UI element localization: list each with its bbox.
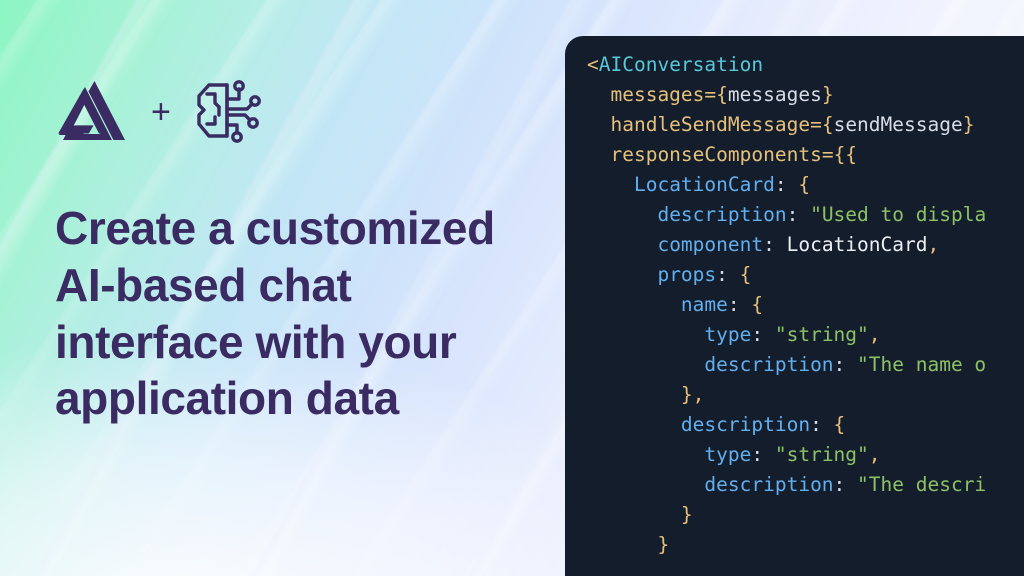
code-indent <box>587 473 704 496</box>
page-title: Create a customized AI-based chat interf… <box>55 200 550 427</box>
code-indent <box>587 443 704 466</box>
code-token: messages <box>610 83 704 106</box>
code-indent <box>587 263 657 286</box>
code-indent <box>587 413 681 436</box>
code-line: } <box>587 500 986 530</box>
code-indent <box>587 383 681 406</box>
code-token: "string" <box>775 323 869 346</box>
headline-line-4: application data <box>55 370 550 427</box>
code-line: description: "The name o <box>587 350 986 380</box>
code-token: : <box>716 263 739 286</box>
code-line: <AIConversation <box>587 50 986 80</box>
code-token: responseComponents <box>610 143 821 166</box>
code-token: } <box>681 503 693 526</box>
code-token: { <box>822 113 834 136</box>
code-line: description: { <box>587 410 986 440</box>
code-line: description: "The descri <box>587 470 986 500</box>
code-line: responseComponents={{ <box>587 140 986 170</box>
code-panel: <AIConversation messages={messages} hand… <box>565 36 1024 576</box>
code-block: <AIConversation messages={messages} hand… <box>587 50 986 560</box>
code-indent <box>587 503 681 526</box>
amplify-logo-icon <box>55 78 129 146</box>
code-line: messages={messages} <box>587 80 986 110</box>
code-token: : <box>787 203 810 226</box>
code-token: } <box>963 113 975 136</box>
code-token: description <box>681 413 810 436</box>
code-token: : <box>751 443 774 466</box>
code-line: handleSendMessage={sendMessage} <box>587 110 986 140</box>
code-token: { <box>834 413 846 436</box>
code-token: { <box>716 83 728 106</box>
code-line: type: "string", <box>587 440 986 470</box>
code-token: description <box>704 353 833 376</box>
code-token: } <box>657 533 669 556</box>
plus-separator-icon: + <box>151 95 171 129</box>
code-token: description <box>657 203 786 226</box>
code-token: : <box>810 413 833 436</box>
code-token: AIConversation <box>599 53 763 76</box>
code-token: "string" <box>775 443 869 466</box>
code-token: LocationCard <box>634 173 775 196</box>
code-token: sendMessage <box>834 113 963 136</box>
code-token: } <box>681 383 693 406</box>
headline-line-1: Create a customized <box>55 200 550 257</box>
code-token: = <box>822 143 834 166</box>
code-token: type <box>704 323 751 346</box>
code-token: handleSendMessage <box>610 113 810 136</box>
code-token: "The descri <box>857 473 986 496</box>
code-indent <box>587 173 634 196</box>
code-line: LocationCard: { <box>587 170 986 200</box>
code-token: : <box>751 323 774 346</box>
headline-line-3: interface with your <box>55 314 550 371</box>
code-token: : <box>763 233 786 256</box>
code-indent <box>587 83 610 106</box>
code-line: } <box>587 530 986 560</box>
code-token: { <box>798 173 810 196</box>
code-indent <box>587 293 681 316</box>
code-token: component <box>657 233 763 256</box>
code-indent <box>587 113 610 136</box>
code-token: name <box>681 293 728 316</box>
code-line: props: { <box>587 260 986 290</box>
code-token: : <box>775 173 798 196</box>
promo-banner: + Crea <box>0 0 1024 576</box>
code-line: component: LocationCard, <box>587 230 986 260</box>
code-line: type: "string", <box>587 320 986 350</box>
code-token: , <box>693 383 705 406</box>
code-indent <box>587 233 657 256</box>
code-token: , <box>869 443 881 466</box>
code-token: "Used to displa <box>810 203 986 226</box>
code-token: < <box>587 53 599 76</box>
code-indent <box>587 323 704 346</box>
code-token: = <box>704 83 716 106</box>
code-token: { <box>740 263 752 286</box>
code-token: } <box>822 83 834 106</box>
code-token: LocationCard <box>787 233 928 256</box>
code-token: = <box>810 113 822 136</box>
ai-brain-circuit-icon <box>193 79 265 145</box>
headline-line-2: AI-based chat <box>55 257 550 314</box>
code-indent <box>587 143 610 166</box>
left-content-column: + Crea <box>0 0 565 576</box>
logo-row: + <box>55 78 265 146</box>
code-token: : <box>834 473 857 496</box>
code-token: description <box>704 473 833 496</box>
code-line: name: { <box>587 290 986 320</box>
code-token: "The name o <box>857 353 986 376</box>
code-line: description: "Used to displa <box>587 200 986 230</box>
code-indent <box>587 353 704 376</box>
code-token: , <box>869 323 881 346</box>
code-line: }, <box>587 380 986 410</box>
code-indent <box>587 203 657 226</box>
code-token: { <box>751 293 763 316</box>
code-token: , <box>928 233 940 256</box>
code-token: type <box>704 443 751 466</box>
code-token: props <box>657 263 716 286</box>
code-indent <box>587 533 657 556</box>
code-token: {{ <box>834 143 857 166</box>
code-token: messages <box>728 83 822 106</box>
code-token: : <box>728 293 751 316</box>
code-token: : <box>834 353 857 376</box>
